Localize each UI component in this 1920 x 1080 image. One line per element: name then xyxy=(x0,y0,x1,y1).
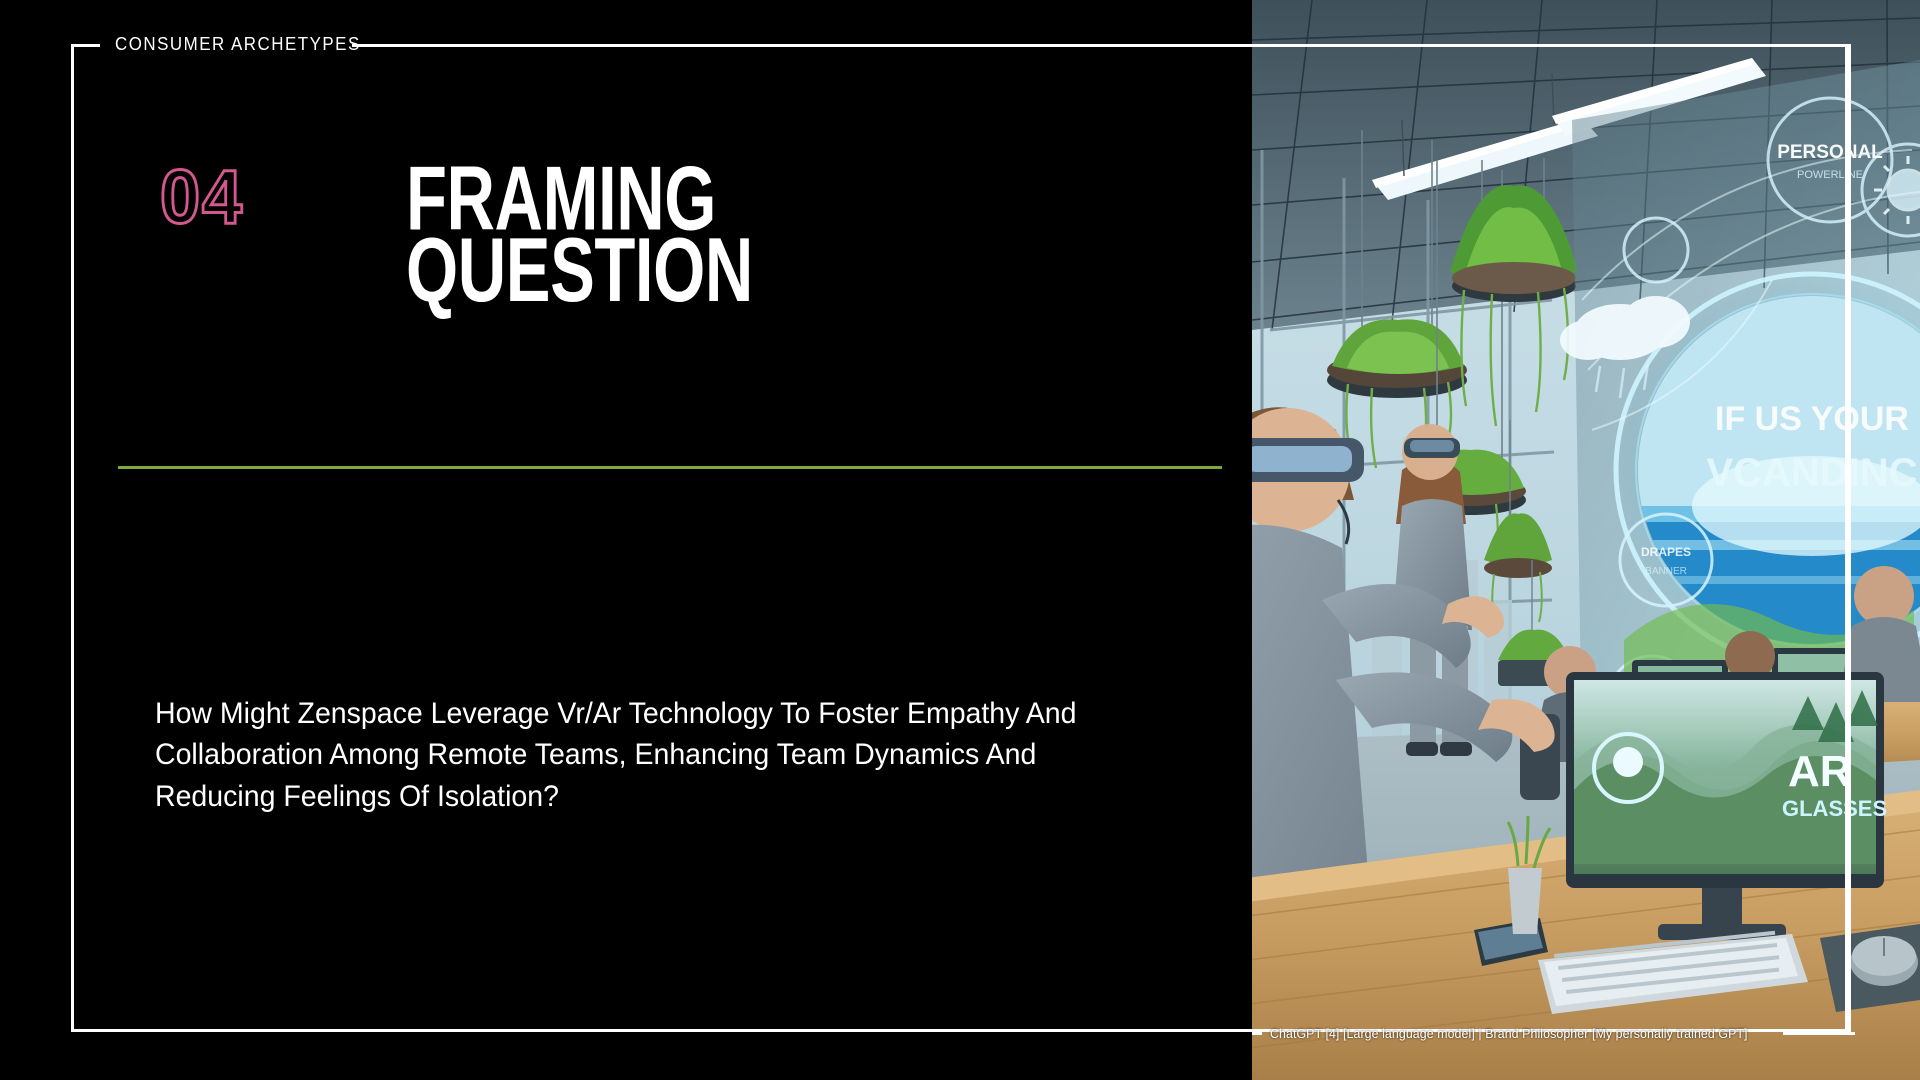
hologram-text-center: IF US YOUR xyxy=(1715,400,1909,438)
page-title: FRAMING QUESTION xyxy=(406,162,753,307)
framing-question-text: How Might Zenspace Leverage Vr/Ar Techno… xyxy=(155,693,1105,817)
eyebrow-label: CONSUMER ARCHETYPES xyxy=(115,34,361,55)
slide-illustration: IF US YOUR VCANDINC PERSONAL POWERLINE D… xyxy=(1252,0,1920,1080)
illustration-artwork: IF US YOUR VCANDINC PERSONAL POWERLINE D… xyxy=(1252,0,1920,1080)
photo-inner-frame-line xyxy=(1848,44,1851,1032)
caption-trailing-rule xyxy=(1783,1032,1855,1035)
section-number: 04 xyxy=(160,160,244,236)
source-caption-group: ChatGPT [4] [Large language model] | Bra… xyxy=(1252,1022,1855,1044)
hologram-text-small-b: BANNER xyxy=(1645,566,1687,577)
caption-tick-mark xyxy=(1252,1032,1262,1035)
desk-mouse xyxy=(1820,924,1920,1012)
source-caption: ChatGPT [4] [Large language model] | Bra… xyxy=(1270,1026,1748,1041)
monitor-label-ar: AR xyxy=(1788,747,1852,796)
hologram-text-center2: VCANDINC xyxy=(1706,451,1917,495)
monitor-label-glasses: GLASSES xyxy=(1782,796,1887,821)
hologram-text-personal-sub: POWERLINE xyxy=(1797,169,1863,181)
slide-root: IF US YOUR VCANDINC PERSONAL POWERLINE D… xyxy=(0,0,1920,1080)
green-divider-rule xyxy=(118,466,1222,469)
hologram-text-small-a: DRAPES xyxy=(1641,545,1691,559)
